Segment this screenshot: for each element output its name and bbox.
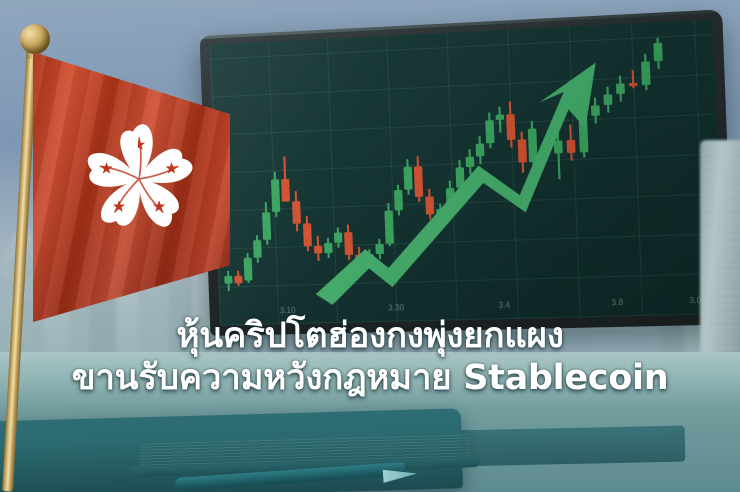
flagpole-finial xyxy=(20,24,50,54)
promo-graphic: 3.103.303.43.83.043.08 หุ้นคริปโตฮ่องกงพ… xyxy=(0,0,740,492)
right-skyscraper xyxy=(700,140,740,370)
uptrend-arrow-icon xyxy=(210,19,724,325)
secondary-book xyxy=(455,426,686,467)
desk-reflection xyxy=(0,352,740,408)
monitor-screen: 3.103.303.43.83.043.08 xyxy=(210,19,724,325)
bauhinia-flower-emblem xyxy=(78,118,200,240)
trading-monitor: 3.103.303.43.83.043.08 xyxy=(200,9,735,336)
